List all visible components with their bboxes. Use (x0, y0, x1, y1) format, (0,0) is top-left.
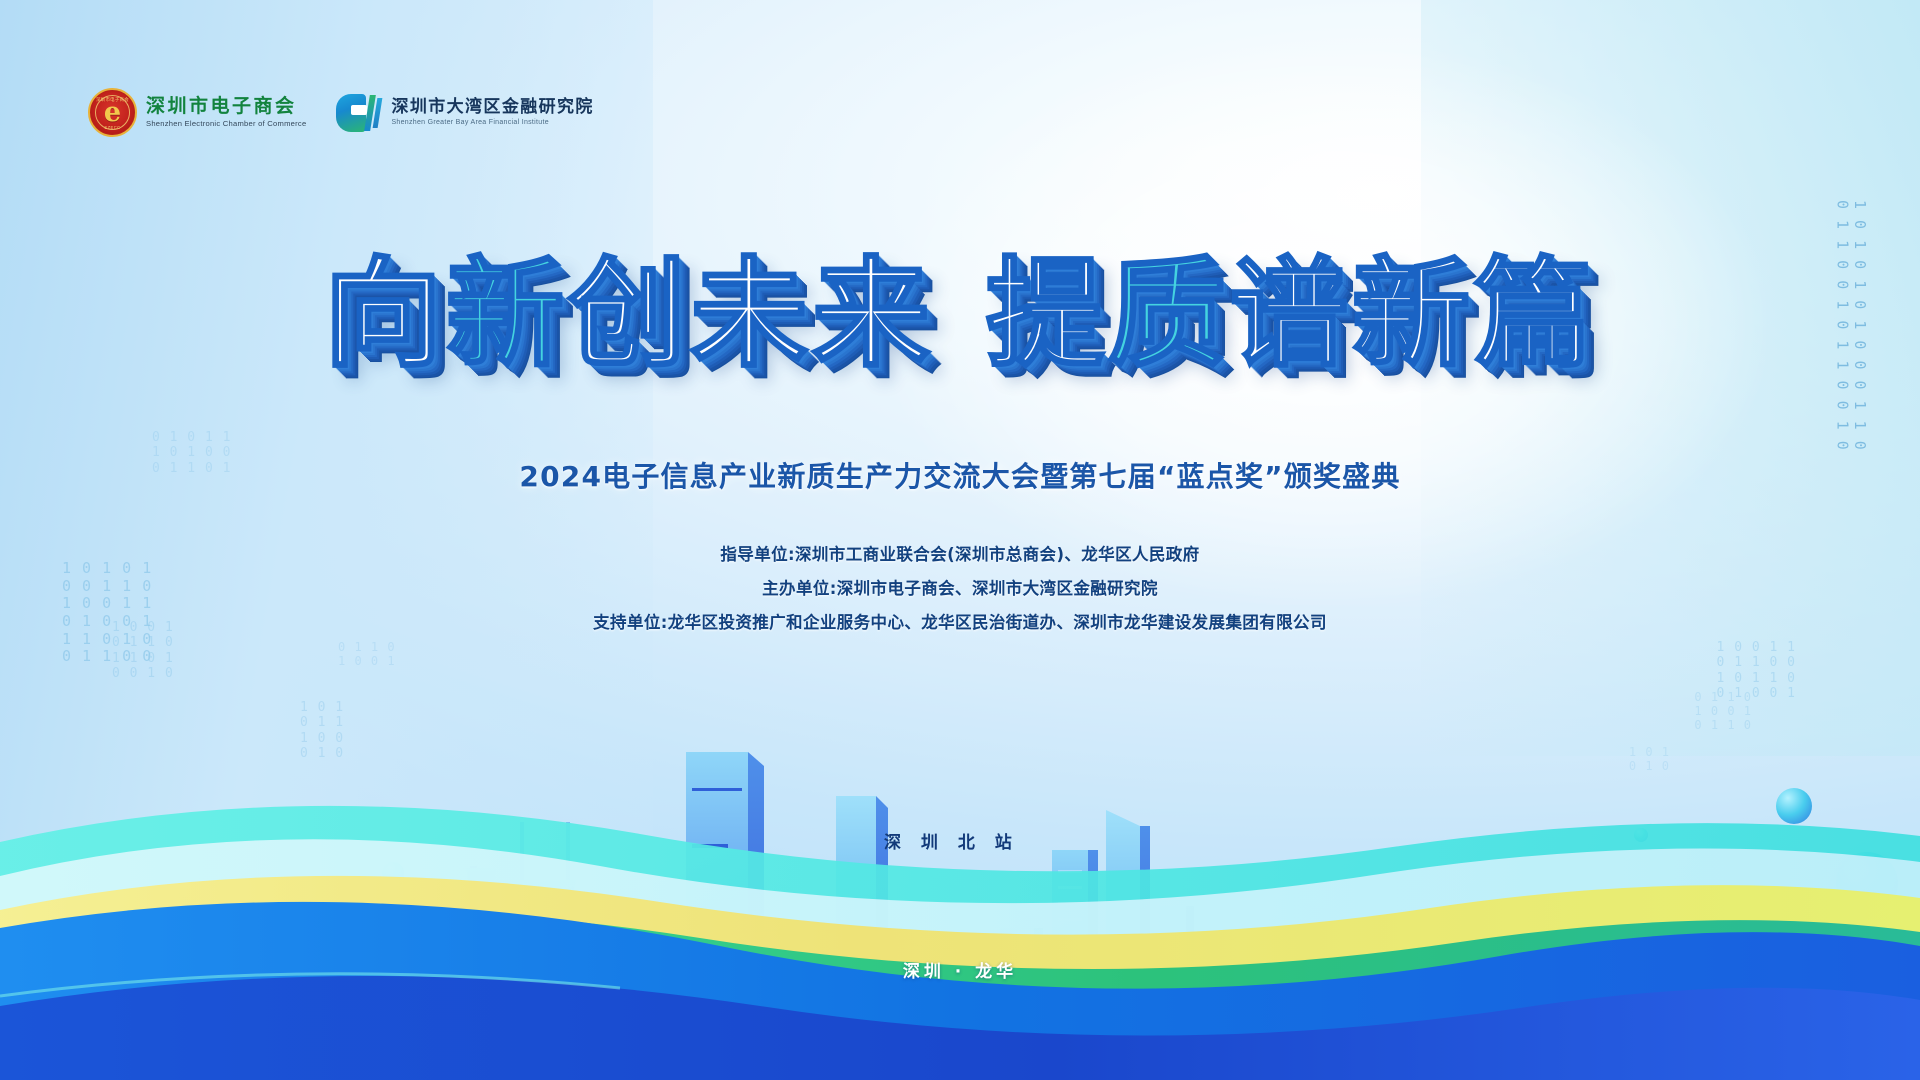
title-seg-3: 提 (986, 245, 1108, 383)
title-accent-zhi: 质 (1108, 245, 1230, 383)
subtitle: 2024电子信息产业新质生产力交流大会暨第七届“蓝点奖”颁奖盛典 (0, 455, 1920, 495)
title-seg-4: 谱新篇 (1230, 245, 1596, 383)
title-accent-xin: 新 (446, 245, 568, 383)
gbi-names: 深圳市大湾区金融研究院 Shenzhen Greater Bay Area Fi… (391, 99, 593, 126)
seal-center-glyph: e (90, 98, 135, 125)
gbi-name-en: Shenzhen Greater Bay Area Financial Inst… (391, 119, 593, 126)
gbi-g-shape (336, 94, 366, 132)
gbi-name-cn: 深圳市大湾区金融研究院 (391, 99, 593, 117)
main-title-text: 向新创未来提质谱新篇 (324, 252, 1596, 377)
logo-gbi: 深圳市大湾区金融研究院 Shenzhen Greater Bay Area Fi… (336, 94, 593, 132)
title-seg-1: 向 (324, 245, 446, 383)
secc-name-en: Shenzhen Electronic Chamber of Commerce (146, 119, 306, 128)
banner-canvas: 1 0 1 0 1 0 0 1 1 0 1 0 0 1 1 0 1 0 0 1 … (0, 0, 1920, 1080)
station-label: 深 圳 北 站 (884, 828, 1019, 853)
organizer-line-support: 支持单位:龙华区投资推广和企业服务中心、龙华区民治街道办、深圳市龙华建设发展集团… (0, 606, 1920, 640)
logo-secc: 深圳市电子商会 e SZECC 深圳市电子商会 Shenzhen Electro… (88, 88, 306, 137)
title-seg-2: 创未来 (568, 245, 934, 383)
secc-seal-icon: 深圳市电子商会 e SZECC (88, 88, 137, 137)
secc-names: 深圳市电子商会 Shenzhen Electronic Chamber of C… (146, 97, 306, 128)
footer-place-label: 深圳 · 龙华 (0, 957, 1920, 982)
organizer-block: 指导单位:深圳市工商业联合会(深圳市总商会)、龙华区人民政府 主办单位:深圳市电… (0, 538, 1920, 640)
wave-decoration (0, 750, 1920, 1080)
gbi-logo-icon (336, 94, 382, 132)
organizer-line-host: 主办单位:深圳市电子商会、深圳市大湾区金融研究院 (0, 572, 1920, 606)
logo-row: 深圳市电子商会 e SZECC 深圳市电子商会 Shenzhen Electro… (88, 88, 594, 137)
organizer-line-guidance: 指导单位:深圳市工商业联合会(深圳市总商会)、龙华区人民政府 (0, 538, 1920, 572)
main-title: 向新创未来提质谱新篇 (0, 252, 1920, 377)
secc-name-cn: 深圳市电子商会 (146, 97, 306, 117)
seal-bottom-text: SZECC (90, 125, 135, 130)
